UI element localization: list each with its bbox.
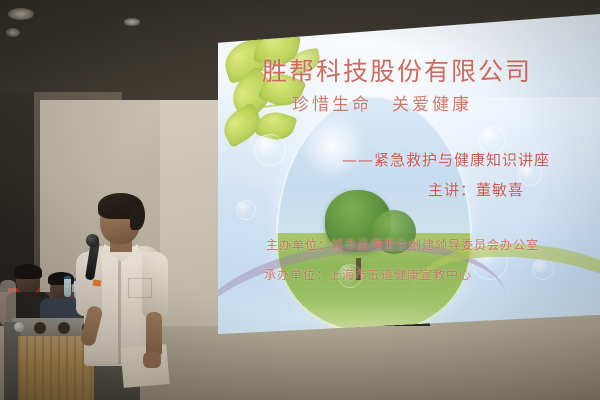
downlight-icon	[124, 18, 140, 26]
presenter-hair-side	[130, 200, 145, 230]
seated-person-hair	[14, 264, 42, 279]
photo-scene: 胜帮科技股份有限公司 珍惜生命 关爱健康 ——紧急救护与健康知识讲座 主讲：董敏…	[0, 0, 600, 400]
downlight-icon	[6, 28, 20, 37]
wall-shadow-strip	[0, 92, 34, 292]
slide-speaker-line: 主讲：董敏喜	[428, 179, 524, 200]
slide-company-title: 胜帮科技股份有限公司	[262, 52, 532, 88]
microphone-capsule-icon	[86, 234, 99, 247]
podium-knob	[14, 322, 24, 332]
downlight-icon	[8, 8, 34, 20]
presenter-hand-right	[143, 352, 161, 368]
presenter-shirt-placket	[118, 258, 121, 364]
microphone-indicator	[93, 279, 102, 286]
podium-hole	[58, 322, 70, 334]
slide-subtitle: 珍惜生命 关爱健康	[292, 90, 472, 115]
podium-hole	[34, 322, 46, 334]
projection-screen: 胜帮科技股份有限公司 珍惜生命 关爱健康 ——紧急救护与健康知识讲座 主讲：董敏…	[218, 14, 600, 334]
presenter-shirt-pocket	[128, 278, 152, 298]
slide-host-line: 承办单位：上海市五道健康宣教中心	[264, 266, 472, 283]
water-bottle-icon	[64, 276, 71, 297]
slide-organizer-line: 主办单位：城市品牌卫生创建领导委员会办公室	[266, 236, 539, 253]
slide-topic-line: ——紧急救护与健康知识讲座	[342, 149, 550, 170]
slide-text-layer: 胜帮科技股份有限公司 珍惜生命 关爱健康 ——紧急救护与健康知识讲座 主讲：董敏…	[218, 14, 600, 334]
